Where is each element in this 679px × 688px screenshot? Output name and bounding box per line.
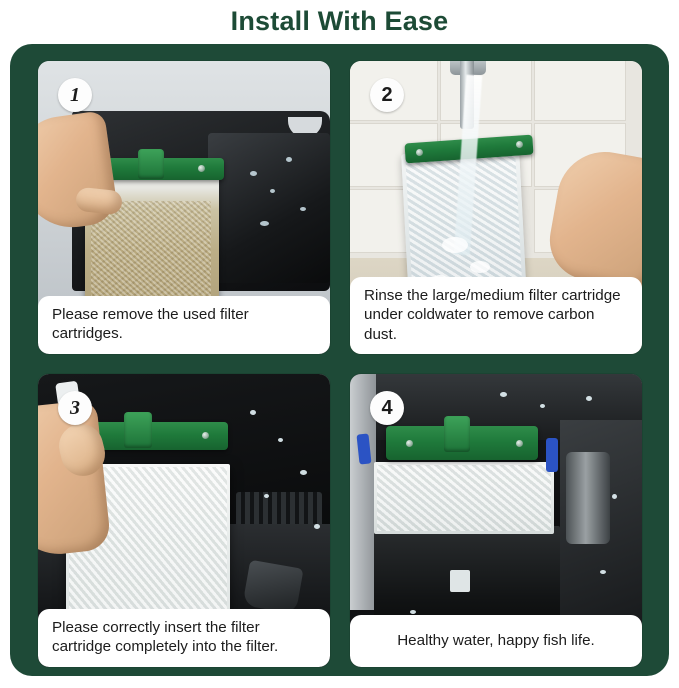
step-panel-3[interactable]: 3 Please correctly insert the filter car…: [38, 374, 330, 667]
step-badge-4: 4: [370, 391, 404, 425]
step-badge-3: 3: [58, 391, 92, 425]
step-caption-4: Healthy water, happy fish life.: [350, 615, 642, 667]
step-badge-2: 2: [370, 78, 404, 112]
page-title: Install With Ease: [0, 0, 679, 42]
step-caption-3: Please correctly insert the filter cartr…: [38, 609, 330, 667]
steps-grid: 1 Please remove the used filter cartridg…: [38, 61, 642, 661]
step-caption-1: Please remove the used filter cartridges…: [38, 296, 330, 354]
step-panel-1[interactable]: 1 Please remove the used filter cartridg…: [38, 61, 330, 354]
step-panel-4[interactable]: 4 Healthy water, happy fish life.: [350, 374, 642, 667]
install-guide-page: Install With Ease: [0, 0, 679, 688]
step-panel-2[interactable]: 2 Rinse the large/medium filter cartridg…: [350, 61, 642, 354]
step-badge-1: 1: [58, 78, 92, 112]
green-frame: 1 Please remove the used filter cartridg…: [10, 44, 669, 676]
step-caption-2: Rinse the large/medium filter cartridge …: [350, 277, 642, 354]
